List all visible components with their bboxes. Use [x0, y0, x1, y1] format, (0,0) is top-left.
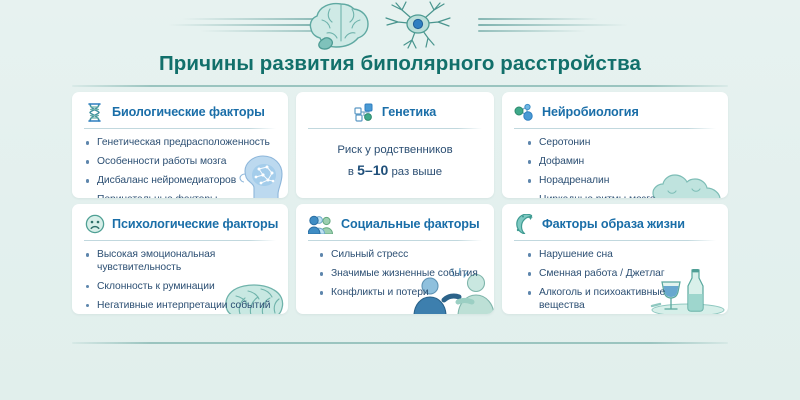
card-biological[interactable]: Биологические факторы Генетическая предр… [72, 92, 288, 198]
divider-top [72, 85, 728, 87]
card-header: Биологические факторы [84, 101, 276, 123]
list-item: Алкоголь и психоактивные вещества [526, 287, 676, 312]
card-title: Психологические факторы [112, 217, 278, 231]
header-illustration [0, 2, 800, 50]
list-item: Циркадные ритмы мозга [526, 194, 716, 198]
page-title: Причины развития биполярного расстройств… [0, 52, 800, 76]
list-item: Нарушение сна [526, 249, 716, 262]
card-divider [308, 240, 482, 241]
card-list: Генетическая предрасположенность Особенн… [84, 137, 276, 198]
genetics-statement: Риск у родственников в 5–10 раз выше [308, 142, 482, 181]
header: Причины развития биполярного расстройств… [0, 0, 800, 88]
card-header: Социальные факторы [308, 213, 482, 235]
card-lifestyle[interactable]: Факторы образа жизни Нарушение сна Сменн… [502, 204, 728, 314]
genetics-accent-value: 5–10 [357, 162, 388, 178]
decorative-lines-right [478, 14, 638, 40]
genetics-line-1: Риск у родственников [308, 142, 482, 160]
list-item: Серотонин [526, 137, 716, 150]
list-item: Высокая эмоциональная чувствительность [84, 249, 276, 274]
infographic-page: Причины развития биполярного расстройств… [0, 0, 800, 400]
people-group-icon [308, 214, 334, 235]
sad-face-icon [84, 214, 105, 235]
list-item: Дисбаланс нейромедиаторов [84, 175, 276, 188]
decorative-lines-left [160, 14, 320, 40]
card-list: Высокая эмоциональная чувствительность С… [84, 249, 276, 314]
card-neurobiology[interactable]: Нейробиология Серотонин Дофамин Норадрен… [502, 92, 728, 198]
list-item: Особенности работы мозга [84, 156, 276, 169]
card-title: Факторы образа жизни [542, 217, 685, 231]
card-header: Психологические факторы [84, 213, 276, 235]
moon-icon [514, 214, 535, 235]
molecule-icon [514, 102, 535, 123]
card-divider [84, 128, 276, 129]
list-item: Генетическая предрасположенность [84, 137, 276, 150]
list-item: Значимые жизненные события [318, 268, 482, 281]
card-social[interactable]: Социальные факторы Сильный стресс Значим… [296, 204, 494, 314]
genetics-suffix: раз выше [388, 166, 442, 178]
brain-icon [305, 0, 379, 50]
card-title: Биологические факторы [112, 105, 265, 119]
list-item: Норадреналин [526, 175, 716, 188]
card-title: Генетика [382, 105, 436, 119]
list-item: Негативные интерпретации событий [84, 300, 276, 313]
card-genetics[interactable]: Генетика Риск у родственников в 5–10 раз… [296, 92, 494, 198]
card-title: Социальные факторы [341, 217, 480, 231]
card-header: Факторы образа жизни [514, 213, 716, 235]
list-item: Перинатальные факторы [84, 194, 276, 198]
list-item: Склонность к руминации [84, 281, 276, 294]
card-divider [308, 128, 482, 129]
card-divider [84, 240, 276, 241]
card-header: Нейробиология [514, 101, 716, 123]
card-list: Нарушение сна Сменная работа / Джетлаг А… [526, 249, 716, 312]
card-list: Серотонин Дофамин Норадреналин Циркадные… [526, 137, 716, 198]
card-psychological[interactable]: Психологические факторы Высокая эмоциона… [72, 204, 288, 314]
divider-bottom [72, 342, 728, 344]
pedigree-tree-icon [354, 102, 375, 123]
list-item: Конфликты и потери [318, 287, 482, 300]
card-list: Сильный стресс Значимые жизненные событи… [318, 249, 482, 300]
genetics-prefix: в [348, 166, 357, 178]
neuron-icon [382, 0, 454, 50]
cards-grid: Биологические факторы Генетическая предр… [72, 92, 728, 314]
card-divider [514, 240, 716, 241]
list-item: Сменная работа / Джетлаг [526, 268, 716, 281]
genetics-line-2: в 5–10 раз выше [308, 160, 482, 182]
card-header: Генетика [308, 101, 482, 123]
list-item: Дофамин [526, 156, 716, 169]
card-title: Нейробиология [542, 105, 639, 119]
dna-icon [84, 102, 105, 123]
list-item: Сильный стресс [318, 249, 482, 262]
card-divider [514, 128, 716, 129]
